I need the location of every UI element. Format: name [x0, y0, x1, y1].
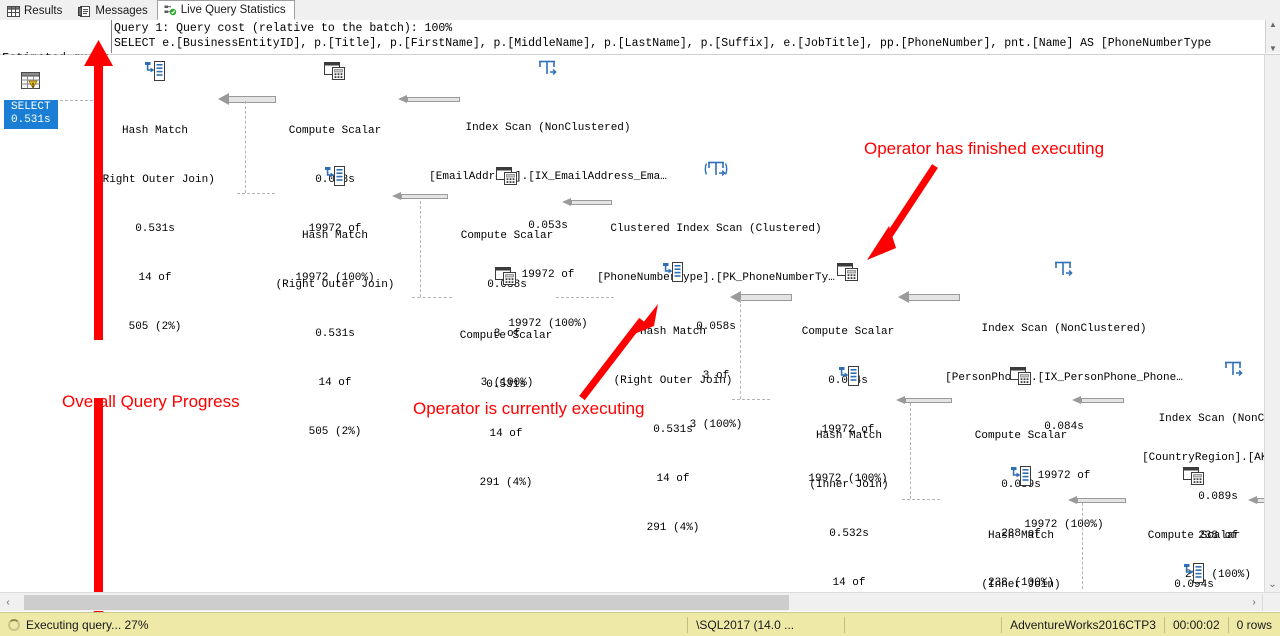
node-hash-match-4-label: Hash Match (Inner Join) 0.532s 14 of 291… — [790, 417, 908, 592]
scroll-up-icon[interactable]: ▲ — [1269, 20, 1277, 29]
scrollbar-corner — [1262, 594, 1280, 611]
query-header-bar: Estimated query progress:27% Query 1: Qu… — [0, 20, 1280, 55]
node-hash-match-2[interactable]: Hash Match (Right Outer Join) 0.531s 14 … — [272, 165, 398, 475]
compute-scalar-icon — [447, 265, 565, 292]
index-scan-icon — [1108, 358, 1246, 385]
tab-live-query-statistics-label: Live Query Statistics — [181, 4, 286, 16]
connector-dashed — [237, 193, 275, 194]
tab-results[interactable]: Results — [0, 1, 71, 20]
live-query-statistics-icon — [164, 4, 177, 17]
chevron-right-icon[interactable]: › — [1246, 594, 1262, 611]
node-hash-match-2-label: Hash Match (Right Outer Join) 0.531s 14 … — [272, 217, 398, 474]
tab-live-query-statistics[interactable]: Live Query Statistics — [157, 0, 295, 20]
node-compute-scalar-3[interactable]: Compute Scalar 0.531s 14 of 291 (4%) — [447, 265, 565, 526]
plan-horizontal-scrollbar-thumb[interactable] — [24, 595, 789, 610]
compute-scalar-icon — [962, 365, 1080, 392]
select-result-icon — [18, 82, 44, 99]
node-compute-scalar-3-label: Compute Scalar 0.531s 14 of 291 (4%) — [447, 317, 565, 525]
status-bar: Executing query... 27% \SQL2017 (14.0 ..… — [0, 612, 1280, 636]
connector-dashed — [245, 101, 246, 193]
plan-horizontal-scrollbar-track[interactable] — [16, 594, 1246, 611]
connector-dashed — [910, 403, 911, 499]
messages-icon — [78, 5, 91, 18]
connector-arrow — [218, 93, 276, 106]
plan-vertical-scrollbar[interactable]: ⌄ — [1264, 55, 1280, 592]
live-query-statistics-window: Results Messages — [0, 0, 1280, 636]
status-login — [845, 613, 1001, 636]
plan-horizontal-scrollbar[interactable]: ‹ › — [0, 592, 1280, 611]
query-sql-line: SELECT e.[BusinessEntityID], p.[Title], … — [114, 36, 1264, 51]
clustered-index-scan-icon — [595, 158, 837, 185]
index-scan-icon — [930, 258, 1198, 285]
select-node-chip: SELECT0.531s — [4, 100, 58, 129]
hash-match-icon — [610, 261, 736, 288]
status-execution: Executing query... 27% — [0, 613, 316, 636]
hash-match-icon — [1135, 562, 1253, 589]
query-cost-line: Query 1: Query cost (relative to the bat… — [114, 21, 1264, 36]
tab-results-label: Results — [24, 5, 62, 17]
node-hash-match-4[interactable]: Hash Match (Inner Join) 0.532s 14 of 291… — [790, 365, 908, 592]
node-hash-match-6[interactable]: Hash Match — [1135, 562, 1253, 592]
status-elapsed-label: 00:00:02 — [1173, 618, 1220, 632]
annotation-arrow-progress-up — [82, 40, 116, 340]
execution-plan-canvas[interactable]: SELECT0.531s Hash Match (Right Out — [0, 55, 1280, 592]
node-select[interactable]: SELECT0.531s — [4, 71, 58, 129]
compute-scalar-icon — [1135, 465, 1253, 492]
select-node-label: SELECT — [11, 101, 51, 113]
hash-match-icon — [962, 465, 1080, 492]
plan-vertical-scrollbar-thumb[interactable] — [1266, 55, 1279, 355]
grid-icon — [7, 5, 20, 18]
chevron-left-icon[interactable]: ‹ — [0, 594, 16, 611]
scroll-down-icon[interactable]: ▼ — [1269, 44, 1277, 53]
tab-messages-label: Messages — [95, 5, 147, 17]
query-text-block: Query 1: Query cost (relative to the bat… — [114, 20, 1264, 54]
annotation-operator-finished: Operator has finished executing — [864, 139, 1104, 159]
status-rows: 0 rows — [1229, 613, 1280, 636]
hash-match-icon — [790, 365, 908, 392]
annotation-arrow-progress-down — [82, 398, 116, 620]
annotation-arrow-operator-executing — [562, 300, 667, 405]
results-pane-tabstrip: Results Messages — [0, 0, 1280, 21]
editor-vertical-scrollbar[interactable]: ▲ ▼ — [1265, 20, 1280, 53]
status-database: AdventureWorks2016CTP3 — [1002, 613, 1164, 636]
busy-spinner-icon — [8, 619, 20, 631]
status-server: \SQL2017 (14.0 ... — [688, 613, 844, 636]
status-execution-label: Executing query... 27% — [26, 618, 149, 632]
chevron-down-icon[interactable]: ⌄ — [1265, 576, 1280, 592]
status-database-label: AdventureWorks2016CTP3 — [1010, 618, 1156, 632]
status-elapsed: 00:00:02 — [1165, 613, 1228, 636]
node-hash-match-5[interactable]: Hash Match (Inner Join) 0.532s 14 of 291… — [962, 465, 1080, 592]
select-node-cost: 0.531s — [11, 114, 51, 126]
compute-scalar-icon — [448, 165, 566, 192]
node-hash-match-5-label: Hash Match (Inner Join) 0.532s 14 of 291… — [962, 517, 1080, 592]
tab-messages[interactable]: Messages — [71, 1, 156, 20]
hash-match-icon — [272, 165, 398, 192]
compute-scalar-icon — [789, 261, 907, 288]
status-rows-label: 0 rows — [1237, 618, 1272, 632]
index-scan-icon — [415, 57, 681, 84]
status-server-label: \SQL2017 (14.0 ... — [696, 618, 794, 632]
annotation-arrow-operator-finished — [855, 160, 945, 265]
compute-scalar-icon — [276, 60, 394, 87]
